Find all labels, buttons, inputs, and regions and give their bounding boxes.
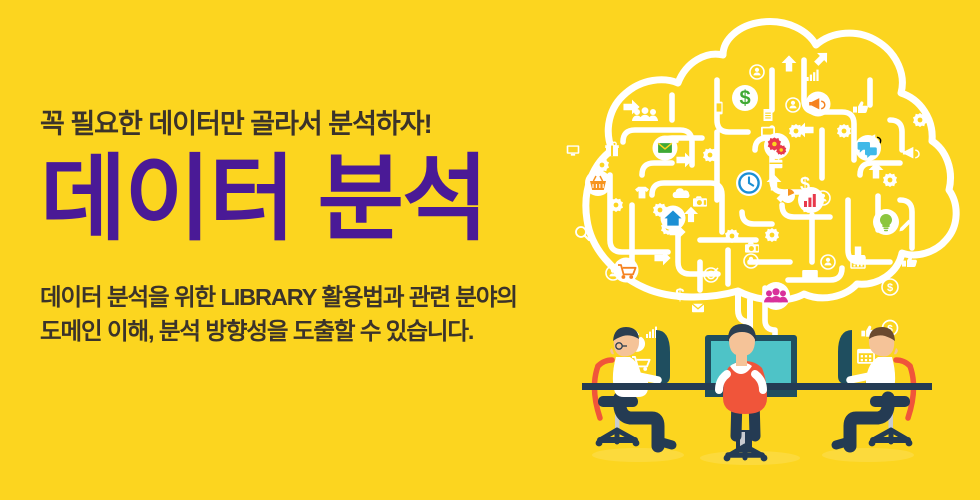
arrow-icon [684,207,698,222]
description-line-2: 도메인 이해, 분석 방향성을 도출할 수 있습니다. [40,314,560,348]
envelope-icon [653,136,678,161]
arrow-icon [767,174,782,190]
brain-network-illustration: $ $ $ $ [560,0,980,500]
dollar-icon: $ [732,85,758,111]
user-badge-icon [821,255,835,269]
home-icon [661,206,686,231]
monitor-icon [567,145,580,155]
bar-chart-icon [798,187,824,213]
promo-banner: 꼭 필요한 데이터만 골라서 분석하자! 데이터 분석 데이터 분석을 위한 L… [0,0,980,500]
bar-chart-icon [646,327,657,338]
svg-text:$: $ [887,282,893,294]
gears-icon [764,133,790,159]
people-group-icon [762,282,790,310]
arrow-icon [782,55,797,71]
calendar-icon [858,350,874,363]
chat-bubbles-icon [855,135,881,161]
people-group-icon [632,107,658,121]
page-title: 데이터 분석 [40,152,560,246]
megaphone-icon [903,147,919,159]
camera-icon [693,196,707,206]
shopping-cart-icon [614,258,639,283]
user-badge-icon [786,98,800,112]
gear-icon [883,173,897,187]
document-icon [764,109,773,121]
gear-icon [837,124,851,138]
user-badge-icon [750,65,764,79]
gift-icon [605,142,619,156]
arrow-icon [811,48,832,69]
description-line-1: 데이터 분석을 위한 LIBRARY 활용법과 관련 분야의 [40,280,560,314]
eyebrow-text: 꼭 필요한 데이터만 골라서 분석하자! [40,110,560,140]
gear-icon [765,228,779,242]
shopping-basket-icon [585,170,611,196]
tshirt-icon [635,187,649,199]
description-text: 데이터 분석을 위한 LIBRARY 활용법과 관련 분야의 도메인 이해, 분… [40,280,560,348]
pie-chart-icon [781,189,795,203]
dollar-coin-icon: $ [882,279,898,295]
cloud-icon [673,188,690,198]
clock-icon [736,170,762,196]
text-block: 꼭 필요한 데이터만 골라서 분석하자! 데이터 분석 데이터 분석을 위한 L… [40,110,560,348]
gear-icon [789,124,803,138]
envelope-icon [692,304,704,312]
dollar-icon: $ [675,285,685,304]
office-scene: $ [582,321,932,462]
signal-bars-icon [807,70,819,81]
lightbulb-icon [873,209,899,235]
megaphone-icon [806,92,831,117]
smartphone-icon [715,102,722,115]
svg-text:$: $ [739,88,750,110]
camera-icon [745,242,759,252]
thumbs-up-icon [853,101,868,113]
